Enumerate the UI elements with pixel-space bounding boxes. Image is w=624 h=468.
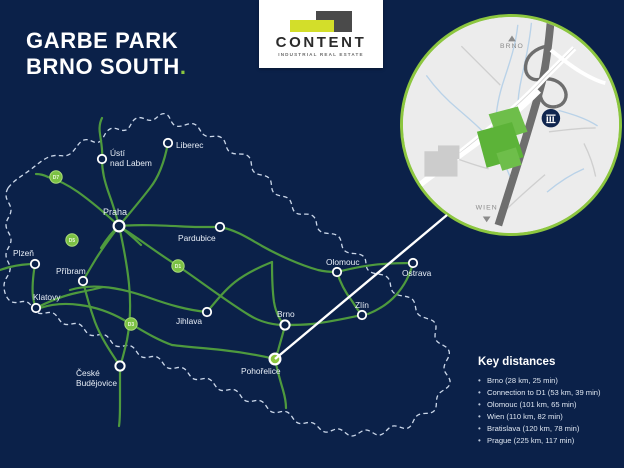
city-label-plzen: Plzeň bbox=[13, 248, 34, 258]
highway-label-d1: D1 bbox=[175, 264, 182, 270]
key-distance-item: Olomouc (101 km, 65 min) bbox=[478, 399, 618, 411]
highway-label-d5: D5 bbox=[69, 238, 76, 244]
city-dot-jihlava bbox=[203, 308, 211, 316]
title-line-2-text: BRNO SOUTH bbox=[26, 54, 180, 79]
road-plzen-west bbox=[0, 264, 35, 270]
inset-label-brno: BRNO bbox=[500, 43, 524, 50]
highway-badge-d7: D7 bbox=[50, 171, 62, 183]
road-pohorelice-west bbox=[172, 345, 275, 359]
title-accent-dot: . bbox=[180, 54, 187, 79]
road-d1-jihlava bbox=[207, 262, 272, 312]
page-title: GARBE PARK BRNO SOUTH. bbox=[26, 28, 187, 80]
city-label-ostrava: Ostrava bbox=[402, 268, 432, 278]
highway-label-d3: D3 bbox=[128, 322, 135, 328]
city-label-pardubice: Pardubice bbox=[178, 233, 216, 243]
city-dot-olomouc bbox=[333, 268, 341, 276]
city-dot-usti bbox=[98, 155, 106, 163]
city-label-brno: Brno bbox=[277, 309, 295, 319]
key-distance-item: Wien (110 km, 82 min) bbox=[478, 411, 618, 423]
road-praha-pardubice bbox=[119, 225, 220, 227]
content-logo: CONTENT INDUSTRIAL REAL ESTATE bbox=[259, 0, 383, 68]
road-west-branch bbox=[40, 304, 172, 345]
city-label-usti-line2: nad Labem bbox=[110, 158, 152, 168]
road-praha-pribram bbox=[83, 226, 119, 281]
logo-lime-block bbox=[290, 20, 334, 32]
logo-tagline: INDUSTRIAL REAL ESTATE bbox=[278, 52, 363, 57]
road-d7-stub bbox=[36, 174, 48, 177]
site-pin-icon bbox=[542, 109, 560, 127]
city-label-pribram: Příbram bbox=[56, 266, 86, 276]
city-dot-pribram bbox=[79, 277, 87, 285]
czech-republic-map: D7 D5 D1 D3 bbox=[0, 96, 470, 468]
key-distance-item: Prague (225 km, 117 min) bbox=[478, 435, 618, 447]
road-d7-west bbox=[48, 177, 119, 226]
slide-root: GARBE PARK BRNO SOUTH. CONTENT INDUSTRIA… bbox=[0, 0, 624, 468]
road-zlin-brno bbox=[285, 315, 362, 325]
key-distance-item: Brno (28 km, 25 min) bbox=[478, 375, 618, 387]
city-label-klatovy: Klatovy bbox=[33, 292, 61, 302]
city-label-budejovice-line1: České bbox=[76, 368, 100, 378]
city-label-usti-line1: Ústí bbox=[110, 148, 126, 158]
road-pribram-south bbox=[83, 281, 120, 366]
site-inset-map[interactable]: BRNO WIEN bbox=[400, 14, 622, 236]
city-label-budejovice-line2: Budějovice bbox=[76, 378, 117, 388]
highway-badge-d5: D5 bbox=[66, 234, 78, 246]
site-marker-pohorelice bbox=[270, 354, 281, 365]
city-markers bbox=[31, 139, 417, 371]
city-dot-zlin bbox=[358, 311, 366, 319]
key-distance-item: Connection to D1 (53 km, 39 min) bbox=[478, 387, 618, 399]
highway-badges: D7 D5 D1 D3 bbox=[50, 171, 184, 330]
key-distances-list: Brno (28 km, 25 min) Connection to D1 (5… bbox=[478, 375, 618, 447]
city-dot-ostrava bbox=[409, 259, 417, 267]
city-dot-plzen bbox=[31, 260, 39, 268]
key-distance-item: Bratislava (120 km, 78 min) bbox=[478, 423, 618, 435]
key-distances-title: Key distances bbox=[478, 356, 618, 368]
city-dot-ceske-budejovice bbox=[115, 361, 124, 370]
road-usti-north bbox=[100, 118, 103, 159]
highway-badge-d1: D1 bbox=[172, 260, 184, 272]
key-distances-panel: Key distances Brno (28 km, 25 min) Conne… bbox=[478, 356, 618, 447]
logo-mark-icon bbox=[290, 11, 352, 32]
city-dot-liberec bbox=[164, 139, 172, 147]
inset-map-svg: BRNO WIEN bbox=[403, 17, 619, 233]
title-line-2: BRNO SOUTH. bbox=[26, 54, 187, 80]
city-label-liberec: Liberec bbox=[176, 140, 203, 150]
city-label-pohorelice: Pohořelice bbox=[241, 366, 281, 376]
city-label-jihlava: Jihlava bbox=[176, 316, 202, 326]
city-dot-klatovy bbox=[32, 304, 40, 312]
inset-label-wien: WIEN bbox=[476, 205, 498, 212]
city-dot-pardubice bbox=[216, 223, 224, 231]
city-dot-brno bbox=[280, 320, 289, 329]
logo-wordmark: CONTENT bbox=[276, 35, 367, 50]
city-label-zlin: Zlín bbox=[355, 300, 369, 310]
title-line-1: GARBE PARK bbox=[26, 28, 187, 54]
highway-badge-d3: D3 bbox=[125, 318, 137, 330]
city-label-olomouc: Olomouc bbox=[326, 257, 360, 267]
road-pardubice-olomouc bbox=[220, 227, 337, 272]
city-label-praha: Praha bbox=[103, 207, 127, 217]
highway-label-d7: D7 bbox=[53, 175, 60, 181]
city-dot-praha bbox=[114, 221, 125, 232]
road-budejovice-south bbox=[119, 366, 120, 426]
